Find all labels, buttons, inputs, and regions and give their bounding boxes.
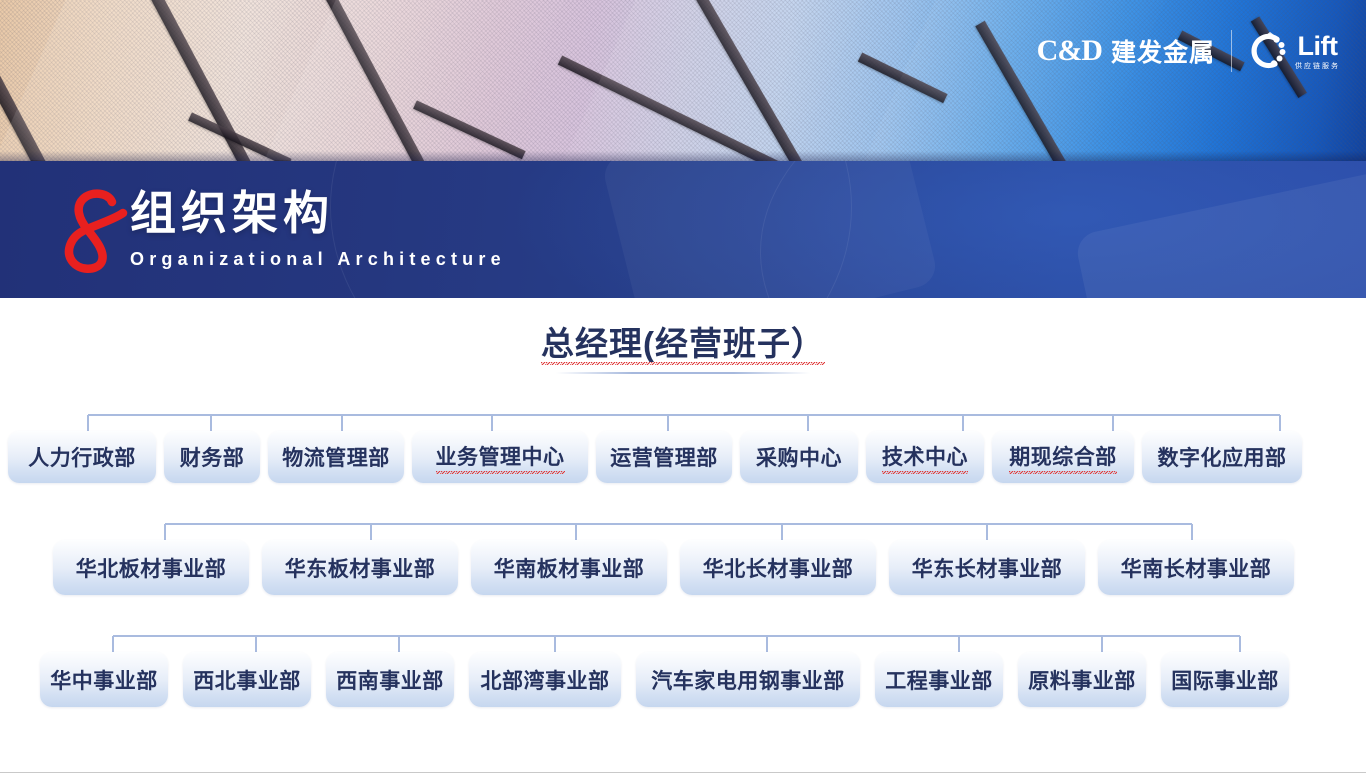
lift-logo: Lift 供应链服务: [1248, 30, 1340, 72]
logo-divider: [1231, 30, 1232, 72]
org-node-label: 运营管理部: [610, 442, 718, 472]
root-node[interactable]: 总经理(经营班子）: [0, 324, 1366, 364]
org-node[interactable]: 北部湾事业部: [469, 652, 621, 707]
lift-wordmark: Lift 供应链服务: [1295, 33, 1340, 70]
org-node[interactable]: 华北长材事业部: [680, 540, 876, 595]
org-node-label: 原料事业部: [1028, 665, 1136, 695]
cd-chinese-name: 建发金属: [1111, 33, 1215, 69]
org-node[interactable]: 西北事业部: [183, 652, 311, 707]
org-node-label: 华北板材事业部: [76, 553, 227, 583]
banner-plate-highlights: [0, 0, 1366, 161]
page-subtitle: Organizational Architecture: [130, 249, 506, 270]
org-node[interactable]: 华南长材事业部: [1098, 540, 1294, 595]
page-title-group: 组织架构 Organizational Architecture: [130, 187, 506, 270]
root-node-label-text: 总经理(经营班子）: [541, 325, 825, 365]
org-node-label: 北部湾事业部: [481, 665, 610, 695]
org-node[interactable]: 采购中心: [740, 431, 858, 483]
org-node[interactable]: 华南板材事业部: [471, 540, 667, 595]
org-node-label: 西南事业部: [336, 665, 444, 695]
org-node[interactable]: 财务部: [164, 431, 260, 483]
root-underline: [556, 372, 810, 374]
org-node[interactable]: 原料事业部: [1018, 652, 1146, 707]
org-node-label: 期现综合部: [1009, 441, 1117, 474]
lift-name: Lift: [1298, 33, 1338, 60]
page-title: 组织架构: [130, 187, 506, 240]
org-node-label: 数字化应用部: [1158, 442, 1287, 472]
org-node-label: 汽车家电用钢事业部: [651, 665, 845, 695]
org-node[interactable]: 华东长材事业部: [889, 540, 1085, 595]
ampersand-logo-icon: [55, 189, 131, 275]
band-decor-arc-2: [760, 161, 1366, 298]
cd-logo: C&D 建发金属: [1037, 33, 1215, 69]
org-node-label: 物流管理部: [282, 442, 390, 472]
org-node-label: 华东长材事业部: [912, 553, 1063, 583]
lift-subtitle: 供应链服务: [1295, 63, 1340, 70]
header-banner: C&D 建发金属 Lift 供应链服务: [0, 0, 1366, 161]
org-node-label: 工程事业部: [885, 665, 993, 695]
org-node[interactable]: 华北板材事业部: [53, 540, 249, 595]
org-level-3: 华中事业部西北事业部西南事业部北部湾事业部汽车家电用钢事业部工程事业部原料事业部…: [0, 652, 1366, 707]
org-node-label: 业务管理中心: [436, 441, 565, 474]
title-band: 组织架构 Organizational Architecture: [0, 161, 1366, 298]
org-node-label: 国际事业部: [1171, 665, 1279, 695]
org-node-label: 华南板材事业部: [494, 553, 645, 583]
org-node-label: 华北长材事业部: [703, 553, 854, 583]
brand-logo-lockup: C&D 建发金属 Lift 供应链服务: [1037, 30, 1340, 72]
org-node-label: 西北事业部: [193, 665, 301, 695]
org-node[interactable]: 国际事业部: [1161, 652, 1289, 707]
org-node[interactable]: 工程事业部: [875, 652, 1003, 707]
org-node-label: 财务部: [180, 442, 245, 472]
banner-bottom-shade: [0, 151, 1366, 161]
org-node-label: 技术中心: [882, 441, 968, 474]
cd-wordmark: C&D: [1037, 34, 1102, 68]
org-node[interactable]: 数字化应用部: [1142, 431, 1302, 483]
org-node-label: 华南长材事业部: [1121, 553, 1272, 583]
org-node-label: 人力行政部: [28, 442, 136, 472]
org-node[interactable]: 华东板材事业部: [262, 540, 458, 595]
org-node[interactable]: 运营管理部: [596, 431, 732, 483]
org-level-2: 华北板材事业部华东板材事业部华南板材事业部华北长材事业部华东长材事业部华南长材事…: [0, 540, 1366, 595]
org-node[interactable]: 西南事业部: [326, 652, 454, 707]
org-node[interactable]: 物流管理部: [268, 431, 404, 483]
org-node[interactable]: 汽车家电用钢事业部: [636, 652, 860, 707]
org-node[interactable]: 华中事业部: [40, 652, 168, 707]
org-node[interactable]: 期现综合部: [992, 431, 1134, 483]
org-level-1: 人力行政部财务部物流管理部业务管理中心运营管理部采购中心技术中心期现综合部数字化…: [0, 431, 1366, 483]
root-node-label: 总经理(经营班子）: [541, 324, 825, 364]
org-node[interactable]: 业务管理中心: [412, 431, 588, 483]
org-node-label: 采购中心: [756, 442, 842, 472]
org-node-label: 华东板材事业部: [285, 553, 436, 583]
org-node[interactable]: 人力行政部: [8, 431, 156, 483]
org-chart: 总经理(经营班子） 人力行政部财务部物流管理部业务管理中心运营管理部采购中心技术…: [0, 298, 1366, 773]
org-node[interactable]: 技术中心: [866, 431, 984, 483]
org-node-label: 华中事业部: [50, 665, 158, 695]
lift-circle-icon: [1248, 30, 1288, 72]
